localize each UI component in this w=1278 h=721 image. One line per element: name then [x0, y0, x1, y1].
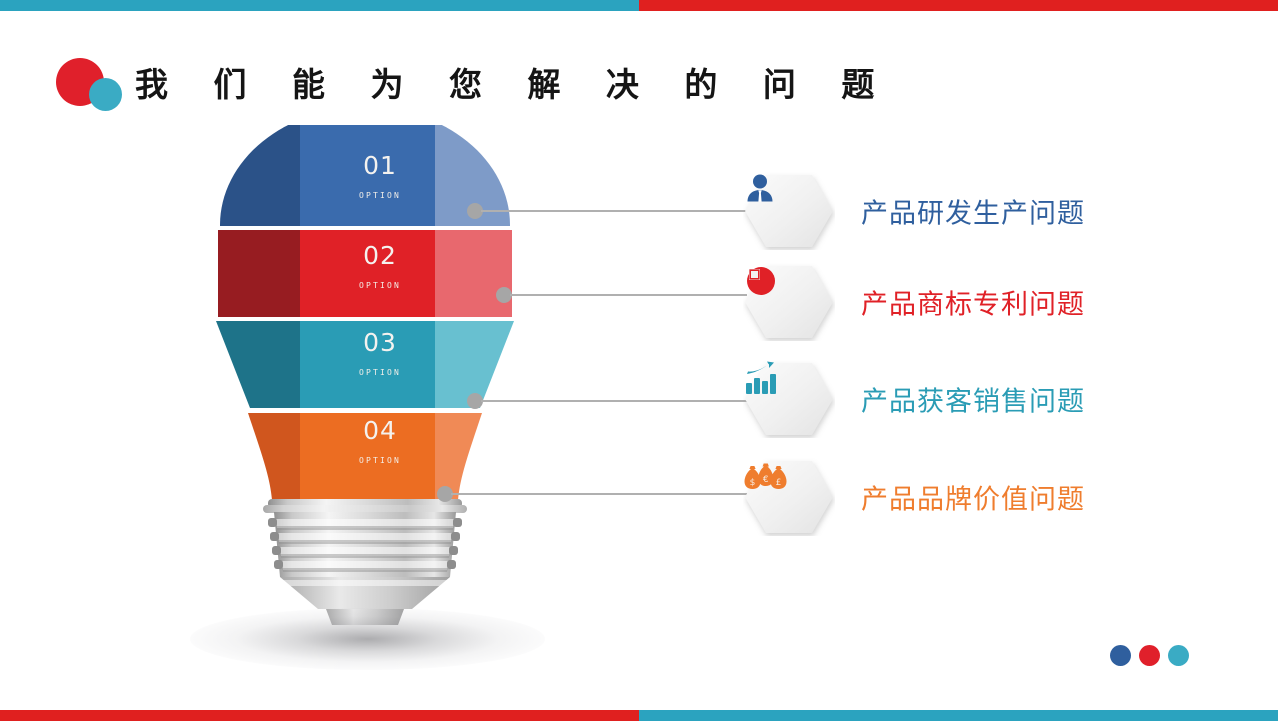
bar-chart-growth-icon	[743, 360, 835, 438]
slide-header: 我 们 能 为 您 解 决 的 问 题	[0, 48, 1278, 118]
item-label-3: 产品获客销售问题	[861, 380, 1085, 419]
pie-chart-icon	[743, 263, 835, 341]
top-bar-teal	[0, 0, 639, 11]
lightbulb-infographic: 01 OPTION 02 OPTION 03 OPTION 04 OPTION	[150, 125, 610, 625]
user-icon	[743, 172, 835, 250]
money-bags-icon: $ € £	[743, 458, 835, 536]
segment-03-band-mid	[300, 315, 435, 415]
segment-02-band-light	[435, 225, 610, 325]
connector-stem-02	[510, 294, 747, 296]
bulb-floor-shadow	[190, 608, 545, 670]
connector-stem-03	[481, 400, 747, 402]
hexagon-badge-2[interactable]	[743, 263, 835, 341]
top-bar-red	[639, 0, 1278, 11]
lightbulb-svg	[150, 125, 610, 625]
connector-stem-01	[481, 210, 747, 212]
connector-stem-04	[451, 493, 747, 495]
page-dot-red[interactable]	[1139, 645, 1160, 666]
bulb-screw-base	[263, 499, 467, 625]
money-symbol-eur: €	[763, 475, 769, 485]
logo-circle-teal	[89, 78, 122, 111]
segment-02-band-dark	[150, 225, 300, 325]
segment-02-band-mid	[300, 225, 435, 325]
hexagon-badge-4[interactable]: $ € £	[743, 458, 835, 536]
money-symbol-gbp: £	[776, 478, 782, 488]
connector-line-01	[467, 203, 747, 219]
page-dot-teal[interactable]	[1168, 645, 1189, 666]
bulb-segment-02	[150, 225, 610, 325]
segment-03-band-dark	[150, 315, 300, 415]
hexagon-badge-3[interactable]	[743, 360, 835, 438]
top-accent-bar	[0, 0, 1278, 11]
hexagon-badge-1[interactable]	[743, 172, 835, 250]
bottom-accent-bar	[0, 710, 1278, 721]
money-symbol-usd: $	[750, 478, 756, 488]
logo	[56, 58, 138, 113]
connector-line-04	[437, 486, 747, 502]
page-dot-blue[interactable]	[1110, 645, 1131, 666]
page-indicator-dots[interactable]	[1110, 645, 1190, 667]
connector-line-03	[467, 393, 747, 409]
item-label-1: 产品研发生产问题	[861, 192, 1085, 231]
slide-canvas: 我 们 能 为 您 解 决 的 问 题	[0, 0, 1278, 721]
item-label-4: 产品品牌价值问题	[861, 478, 1085, 517]
page-title: 我 们 能 为 您 解 决 的 问 题	[135, 56, 891, 114]
segment-04-band-mid	[300, 409, 435, 509]
connector-line-02	[496, 287, 747, 303]
item-label-2: 产品商标专利问题	[861, 283, 1085, 322]
segment-04-band-dark	[150, 409, 300, 509]
bottom-bar-teal	[639, 710, 1278, 721]
bottom-bar-red	[0, 710, 639, 721]
